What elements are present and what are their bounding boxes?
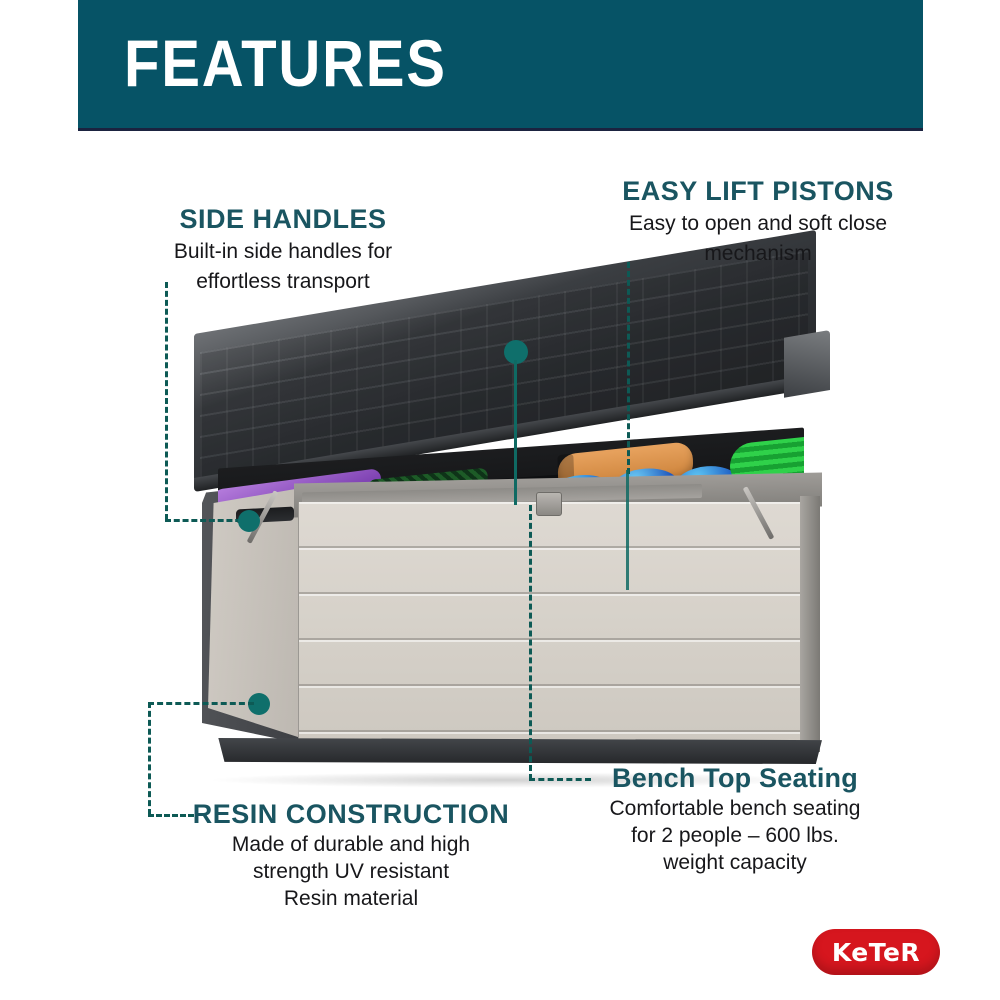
connector-bench-horizontal: [529, 778, 591, 781]
callout-pistons-line1: Easy to open and soft close: [593, 210, 923, 237]
callout-side-handles-title: SIDE HANDLES: [133, 204, 433, 235]
callout-side-handles: SIDE HANDLES Built-in side handles for e…: [133, 204, 433, 295]
body-base: [206, 738, 822, 764]
callout-bench-line3: weight capacity: [585, 850, 885, 876]
callout-pistons-line2: mechanism: [593, 240, 923, 267]
connector-resin-horizontal-top: [148, 702, 254, 705]
body-front-panel: [298, 502, 819, 747]
keter-logo-wordmark: KeTeR: [812, 929, 940, 975]
product-image-deck-box: [190, 330, 830, 780]
body-right-post: [800, 496, 820, 752]
body-slat-texture: [299, 502, 819, 747]
callout-resin-construction: RESIN CONSTRUCTION Made of durable and h…: [186, 798, 516, 912]
callout-resin-line3: Resin material: [186, 886, 516, 912]
lid-right-tip: [784, 330, 830, 398]
connector-side-handles-vertical: [165, 282, 168, 520]
header-banner-underline: [78, 128, 923, 131]
connector-bench-vertical: [529, 505, 532, 780]
callout-side-handles-line2: effortless transport: [133, 268, 433, 295]
callout-bench-line1: Comfortable bench seating: [585, 796, 885, 822]
connector-resin-vertical: [148, 702, 151, 815]
lid-latch: [536, 492, 562, 516]
page-title: FEATURES: [124, 30, 447, 96]
infographic-canvas: FEATURES: [0, 0, 1000, 1000]
connector-bench-upper: [514, 360, 517, 505]
callout-easy-lift-pistons: EASY LIFT PISTONS Easy to open and soft …: [593, 176, 923, 267]
connector-pistons-inner: [626, 470, 629, 590]
callout-bench-line2: for 2 people – 600 lbs.: [585, 823, 885, 849]
callout-resin-line2: strength UV resistant: [186, 859, 516, 885]
callout-bench-title: Bench Top Seating: [585, 762, 885, 795]
connector-pistons-vertical: [627, 262, 630, 474]
marker-side-handles: [238, 510, 260, 532]
callout-resin-line1: Made of durable and high: [186, 832, 516, 858]
callout-pistons-title: EASY LIFT PISTONS: [593, 176, 923, 207]
callout-resin-title: RESIN CONSTRUCTION: [186, 798, 516, 831]
deck-box-body: [200, 480, 830, 780]
callout-side-handles-line1: Built-in side handles for: [133, 238, 433, 265]
callout-bench-top-seating: Bench Top Seating Comfortable bench seat…: [585, 762, 885, 876]
keter-logo: KeTeR: [812, 929, 940, 975]
